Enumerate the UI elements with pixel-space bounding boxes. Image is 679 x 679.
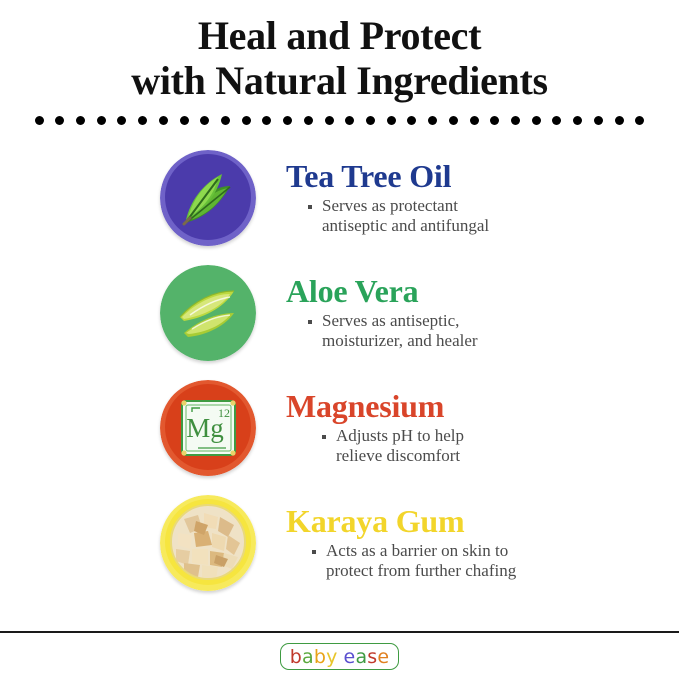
divider-dot	[325, 116, 334, 125]
desc-line: Acts as a barrier on skin to	[326, 541, 679, 561]
logo-letter: a	[302, 646, 314, 668]
divider-dot	[345, 116, 354, 125]
page-title-line-2: with Natural Ingredients	[0, 59, 679, 102]
divider-dot	[594, 116, 603, 125]
bullet-icon	[312, 550, 316, 554]
tea-tree-leaves-icon	[160, 150, 256, 246]
logo-letter: e	[344, 646, 356, 668]
badge-magnesium: Mg 12	[160, 380, 260, 480]
divider-dot	[76, 116, 85, 125]
ingredient-name-karaya-gum: Karaya Gum	[286, 505, 679, 537]
text-karaya-gum: Karaya Gum Acts as a barrier on skin to …	[260, 495, 679, 581]
divider-dot	[138, 116, 147, 125]
bullet-icon	[308, 205, 312, 209]
desc-line: Adjusts pH to help	[336, 426, 679, 446]
dotted-divider	[35, 112, 645, 128]
divider-dot	[552, 116, 561, 125]
divider-dot	[511, 116, 520, 125]
list-item: Serves as antiseptic, moisturizer, and h…	[308, 311, 679, 351]
ingredient-list: Tea Tree Oil Serves as protectant antise…	[0, 150, 679, 610]
divider-dot	[117, 116, 126, 125]
ingredient-row-aloe-vera: Aloe Vera Serves as antiseptic, moisturi…	[0, 265, 679, 380]
ingredient-name-aloe-vera: Aloe Vera	[286, 275, 679, 307]
desc-line: relieve discomfort	[336, 446, 679, 466]
divider-dot	[55, 116, 64, 125]
divider-dot	[262, 116, 271, 125]
bullet-icon	[308, 320, 312, 324]
divider-dot	[283, 116, 292, 125]
divider-dot	[573, 116, 582, 125]
desc-line: moisturizer, and healer	[322, 331, 679, 351]
divider-dot	[470, 116, 479, 125]
ingredient-name-magnesium: Magnesium	[286, 390, 679, 422]
divider-dot	[428, 116, 437, 125]
logo-letter: b	[290, 646, 302, 668]
list-item: Adjusts pH to help relieve discomfort	[322, 426, 679, 466]
divider-dot	[159, 116, 168, 125]
page-title-line-1: Heal and Protect	[0, 14, 679, 57]
text-aloe-vera: Aloe Vera Serves as antiseptic, moisturi…	[260, 265, 679, 351]
divider-dot	[242, 116, 251, 125]
desc-line: Serves as antiseptic,	[322, 311, 679, 331]
divider-dot	[366, 116, 375, 125]
divider-dot	[387, 116, 396, 125]
divider-dot	[200, 116, 209, 125]
divider-dot	[532, 116, 541, 125]
divider-dot	[635, 116, 644, 125]
ingredient-row-tea-tree-oil: Tea Tree Oil Serves as protectant antise…	[0, 150, 679, 265]
list-item: Serves as protectant antiseptic and anti…	[308, 196, 679, 236]
desc-line: antiseptic and antifungal	[322, 216, 679, 236]
divider-dot	[221, 116, 230, 125]
footer-logo-area: babyease	[0, 643, 679, 670]
divider-dot	[97, 116, 106, 125]
divider-dot	[490, 116, 499, 125]
magnesium-element-icon: Mg 12	[160, 380, 256, 476]
text-tea-tree-oil: Tea Tree Oil Serves as protectant antise…	[260, 150, 679, 236]
badge-tea-tree-oil	[160, 150, 260, 250]
logo-letter: a	[355, 646, 367, 668]
ingredient-desc-magnesium: Adjusts pH to help relieve discomfort	[286, 426, 679, 466]
logo-letter: s	[367, 646, 377, 668]
footer-divider	[0, 631, 679, 633]
badge-karaya-gum	[160, 495, 260, 595]
aloe-leaves-icon	[160, 265, 256, 361]
logo-letter: y	[326, 646, 337, 668]
desc-line: protect from further chafing	[326, 561, 679, 581]
karaya-gum-crystals-icon	[160, 495, 256, 591]
divider-dot	[180, 116, 189, 125]
list-item: Acts as a barrier on skin to protect fro…	[312, 541, 679, 581]
ingredient-name-tea-tree-oil: Tea Tree Oil	[286, 160, 679, 192]
brand-logo-baby-ease: babyease	[280, 643, 400, 670]
divider-dot	[449, 116, 458, 125]
ingredient-row-magnesium: Mg 12 Magnesium Adjusts pH to help relie…	[0, 380, 679, 495]
header: Heal and Protect with Natural Ingredient…	[0, 0, 679, 128]
divider-dot	[35, 116, 44, 125]
element-number: 12	[218, 406, 230, 420]
divider-dot	[615, 116, 624, 125]
ingredient-row-karaya-gum: Karaya Gum Acts as a barrier on skin to …	[0, 495, 679, 610]
badge-aloe-vera	[160, 265, 260, 365]
logo-letter: e	[377, 646, 389, 668]
divider-dot	[304, 116, 313, 125]
divider-dot	[407, 116, 416, 125]
text-magnesium: Magnesium Adjusts pH to help relieve dis…	[260, 380, 679, 466]
ingredient-desc-tea-tree-oil: Serves as protectant antiseptic and anti…	[286, 196, 679, 236]
bullet-icon	[322, 435, 326, 439]
infographic-page: Heal and Protect with Natural Ingredient…	[0, 0, 679, 679]
ingredient-desc-aloe-vera: Serves as antiseptic, moisturizer, and h…	[286, 311, 679, 351]
logo-letter: b	[314, 646, 326, 668]
desc-line: Serves as protectant	[322, 196, 679, 216]
ingredient-desc-karaya-gum: Acts as a barrier on skin to protect fro…	[286, 541, 679, 581]
